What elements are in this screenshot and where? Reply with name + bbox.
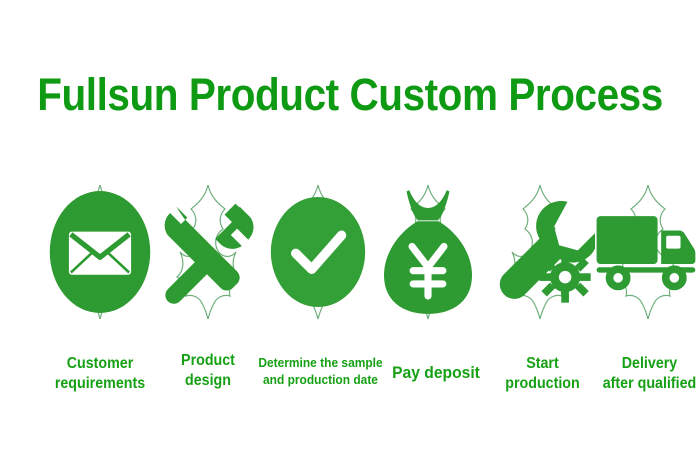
step-6-label-line1: Delivery: [592, 354, 700, 374]
step-5-icon-area: [485, 182, 595, 322]
step-2-label: Product design: [162, 351, 254, 391]
step-1-label-line2: requirements: [36, 374, 165, 394]
process-step-2[interactable]: [153, 182, 263, 322]
wrench-gear-icon: [485, 182, 595, 322]
step-6-label-line2: after qualified: [592, 374, 700, 394]
step-3-label-line1: Determine the sample: [254, 355, 387, 372]
process-step-5[interactable]: [485, 182, 595, 322]
step-2-label-line1: Product: [162, 351, 254, 371]
process-steps-row: [0, 182, 700, 322]
process-infographic: Fullsun Product Custom Process: [0, 0, 700, 455]
step-5-label-line1: Start: [490, 354, 596, 374]
step-1-label: Customer requirements: [36, 354, 165, 394]
page-title: Fullsun Product Custom Process: [35, 70, 665, 120]
step-4-label-line1: Pay deposit: [385, 362, 486, 384]
step-5-label: Start production: [490, 354, 596, 394]
step-2-icon-area: [153, 182, 263, 322]
step-2-label-line2: design: [162, 371, 254, 391]
process-step-4[interactable]: [373, 182, 483, 322]
envelope-icon: [45, 182, 155, 322]
money-bag-yen-icon: [373, 182, 483, 322]
step-5-label-line2: production: [490, 374, 596, 394]
check-circle-icon: [263, 182, 373, 322]
step-4-label: Pay deposit: [385, 362, 486, 384]
step-3-icon-area: [263, 182, 373, 322]
process-step-6[interactable]: [593, 182, 700, 322]
step-6-label: Delivery after qualified: [592, 354, 700, 394]
process-step-3[interactable]: [263, 182, 373, 322]
step-3-label: Determine the sample and production date: [254, 355, 387, 388]
process-step-1[interactable]: [45, 182, 155, 322]
tools-wrench-screwdriver-icon: [153, 182, 263, 322]
step-4-icon-area: [373, 182, 483, 322]
step-6-icon-area: [593, 182, 700, 322]
step-3-label-line2: and production date: [254, 372, 387, 389]
process-labels-row: Customer requirements Product design Det…: [0, 340, 700, 410]
step-1-icon-area: [45, 182, 155, 322]
delivery-truck-icon: [593, 182, 700, 322]
step-1-label-line1: Customer: [36, 354, 165, 374]
